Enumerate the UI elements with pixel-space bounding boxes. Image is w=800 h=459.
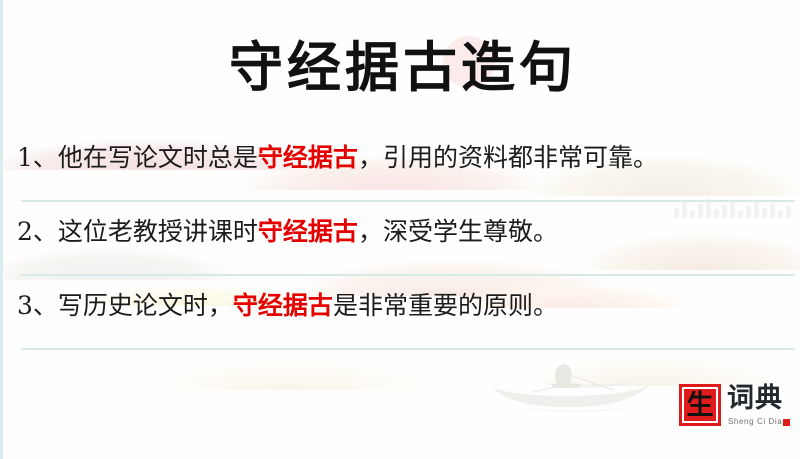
sentence-2: 2、这位老教授讲课时守经据古，深受学生尊敬。 xyxy=(17,215,789,249)
sentence-1: 1、他在写论文时总是守经据古，引用的资料都非常可靠。 xyxy=(17,141,789,175)
slide-canvas: 守经据古造句 1、他在写论文时总是守经据古，引用的资料都非常可靠。 2、这位老教… xyxy=(0,0,800,459)
page-title: 守经据古造句 xyxy=(3,36,800,98)
list-item: 3、写历史论文时，守经据古是非常重要的原则。 xyxy=(3,276,800,350)
sentence-1-before: 他在写论文时总是 xyxy=(58,143,258,172)
sentence-2-before: 这位老教授讲课时 xyxy=(58,217,258,246)
sentence-2-after: ，深受学生尊敬。 xyxy=(358,217,558,246)
logo-pinyin: Sheng Ci Dian xyxy=(728,417,787,426)
sentence-3-idiom: 守经据古 xyxy=(233,291,333,320)
list-item: 1、他在写论文时总是守经据古，引用的资料都非常可靠。 xyxy=(3,128,800,202)
divider-3 xyxy=(21,348,795,350)
brand-logo[interactable]: 生 词典 Sheng Ci Dian xyxy=(679,384,791,432)
logo-wordmark: 词典 xyxy=(727,382,783,416)
sentence-2-number: 2、 xyxy=(17,217,58,246)
list-item: 2、这位老教授讲课时守经据古，深受学生尊敬。 xyxy=(3,202,800,276)
sentence-1-after: ，引用的资料都非常可靠。 xyxy=(358,143,658,172)
boat-icon xyxy=(481,362,661,418)
seal-character: 生 xyxy=(682,387,718,423)
sentence-3: 3、写历史论文时，守经据古是非常重要的原则。 xyxy=(17,289,789,323)
sentence-list: 1、他在写论文时总是守经据古，引用的资料都非常可靠。 2、这位老教授讲课时守经据… xyxy=(3,128,800,350)
sentence-3-after: 是非常重要的原则。 xyxy=(333,291,558,320)
sentence-3-before: 写历史论文时， xyxy=(58,291,233,320)
sentence-2-idiom: 守经据古 xyxy=(258,217,358,246)
seal-icon: 生 xyxy=(679,384,721,426)
sentence-1-idiom: 守经据古 xyxy=(258,143,358,172)
sentence-3-number: 3、 xyxy=(17,291,58,320)
logo-dot-icon xyxy=(783,419,790,426)
sentence-1-number: 1、 xyxy=(17,143,58,172)
